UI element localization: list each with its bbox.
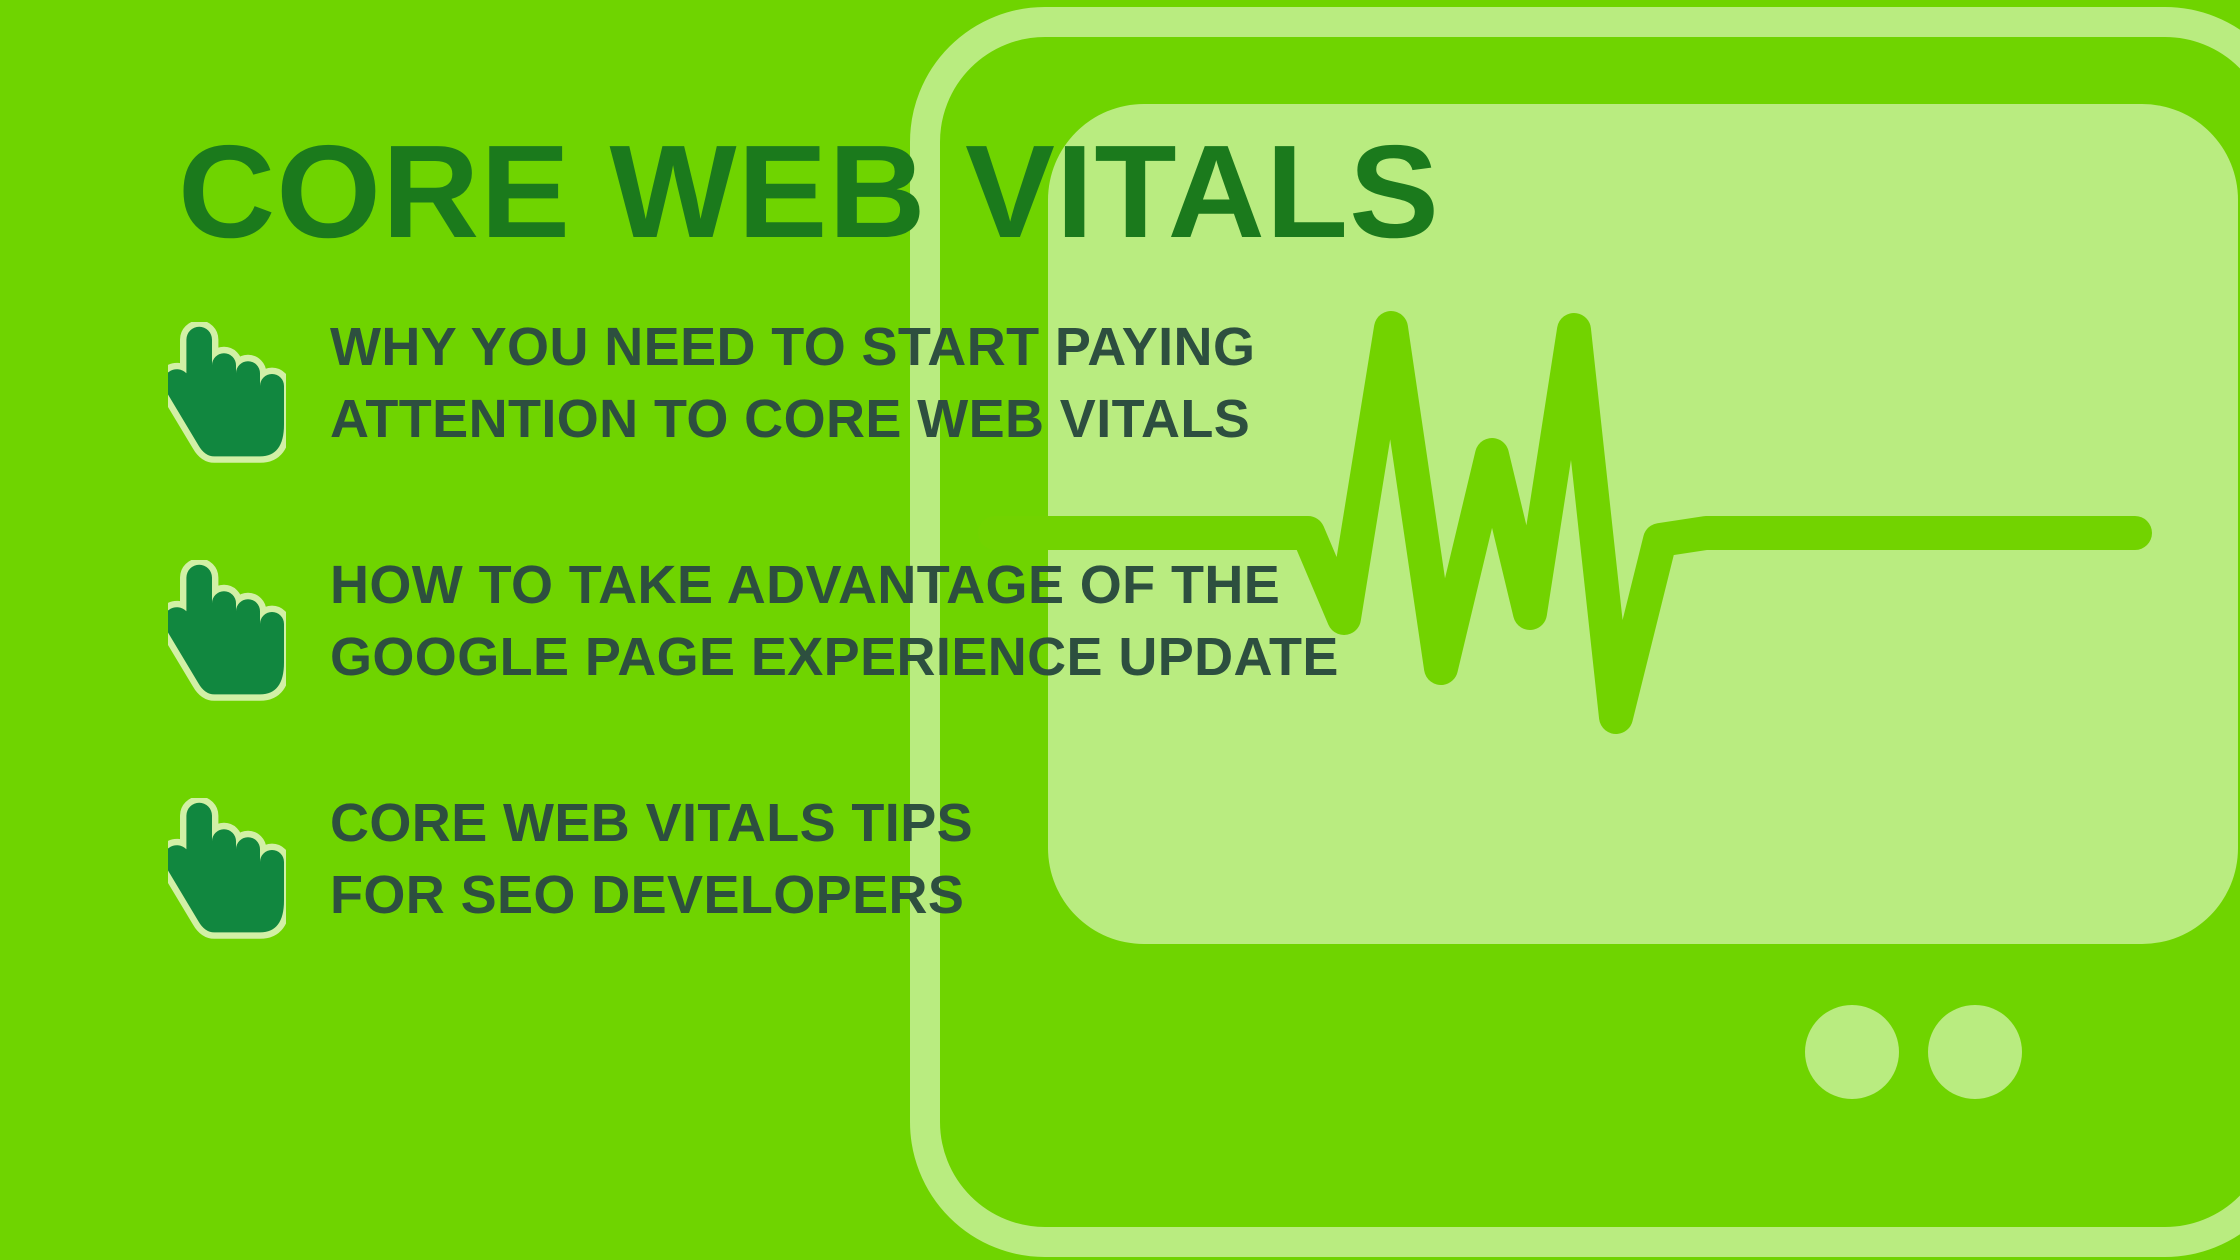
list-item: HOW TO TAKE ADVANTAGE OF THE GOOGLE PAGE… [0, 538, 1760, 728]
pointing-hand-cursor-icon [168, 798, 318, 966]
list-item-text: CORE WEB VITALS TIPS FOR SEO DEVELOPERS [330, 788, 1760, 932]
list-item-text: HOW TO TAKE ADVANTAGE OF THE GOOGLE PAGE… [330, 550, 1760, 694]
list-item: CORE WEB VITALS TIPS FOR SEO DEVELOPERS [0, 776, 1760, 966]
list-item-line-1: WHY YOU NEED TO START PAYING [330, 312, 1760, 384]
poster-canvas: CORE WEB VITALS WHY YOU NEED TO START PA… [0, 0, 2240, 1260]
page-title: CORE WEB VITALS [178, 126, 1440, 258]
list-item-text: WHY YOU NEED TO START PAYING ATTENTION T… [330, 312, 1760, 456]
poster-content: CORE WEB VITALS WHY YOU NEED TO START PA… [0, 0, 2240, 1260]
bullet-list: WHY YOU NEED TO START PAYING ATTENTION T… [0, 300, 1760, 1014]
list-item-line-1: HOW TO TAKE ADVANTAGE OF THE [330, 550, 1760, 622]
pointing-hand-cursor-icon [168, 322, 318, 490]
list-item-line-2: FOR SEO DEVELOPERS [330, 860, 1760, 932]
list-item-line-2: GOOGLE PAGE EXPERIENCE UPDATE [330, 622, 1760, 694]
list-item-line-2: ATTENTION TO CORE WEB VITALS [330, 384, 1760, 456]
pointing-hand-cursor-icon [168, 560, 318, 728]
list-item-line-1: CORE WEB VITALS TIPS [330, 788, 1760, 860]
list-item: WHY YOU NEED TO START PAYING ATTENTION T… [0, 300, 1760, 490]
